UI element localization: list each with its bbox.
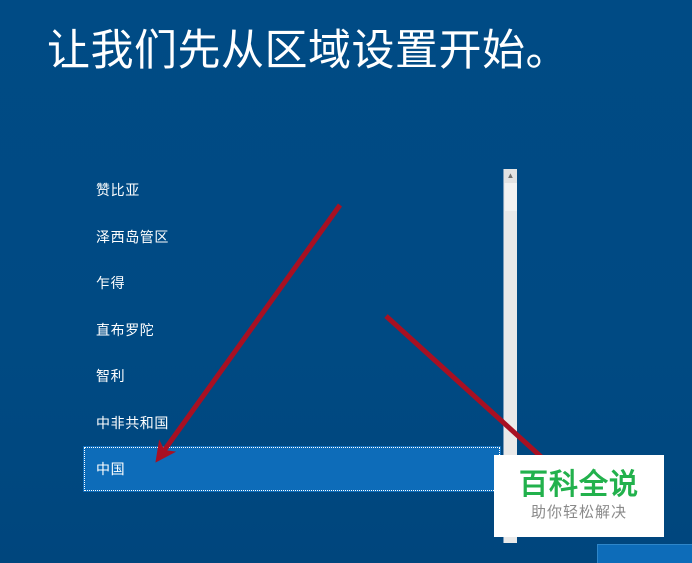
- region-list-item-3[interactable]: 直布罗陀: [83, 307, 501, 353]
- next-button[interactable]: [597, 544, 692, 563]
- watermark-title: 百科全说: [519, 470, 639, 502]
- watermark-subtitle: 助你轻松解决: [531, 505, 627, 522]
- region-select-list[interactable]: 赞比亚 泽西岛管区 乍得 直布罗陀 智利 中非共和国 中国: [83, 167, 501, 491]
- watermark-badge: 百科全说 助你轻松解决: [494, 455, 664, 537]
- region-item-label: 乍得: [83, 273, 125, 293]
- page-title: 让我们先从区域设置开始。: [47, 27, 569, 76]
- scrollbar-thumb[interactable]: [505, 183, 517, 211]
- region-list-item-4[interactable]: 智利: [83, 353, 501, 399]
- region-item-label: 赞比亚: [83, 180, 140, 200]
- region-list-item-0[interactable]: 赞比亚: [83, 167, 501, 213]
- region-list-item-selected[interactable]: 中国: [83, 446, 501, 492]
- region-item-label: 中国: [83, 459, 125, 479]
- region-item-label: 直布罗陀: [83, 320, 154, 340]
- oobe-region-setup-screen: 让我们先从区域设置开始。 赞比亚 泽西岛管区 乍得 直布罗陀 智利 中非共和国 …: [0, 0, 692, 563]
- region-item-label: 泽西岛管区: [83, 227, 169, 247]
- region-item-label: 中非共和国: [83, 413, 169, 433]
- region-list-item-1[interactable]: 泽西岛管区: [83, 214, 501, 260]
- region-item-label: 智利: [83, 366, 125, 386]
- region-list-item-2[interactable]: 乍得: [83, 260, 501, 306]
- scroll-up-arrow-icon[interactable]: ▲: [504, 169, 517, 183]
- region-list-item-5[interactable]: 中非共和国: [83, 400, 501, 446]
- chevron-up-icon: ▲: [507, 172, 515, 180]
